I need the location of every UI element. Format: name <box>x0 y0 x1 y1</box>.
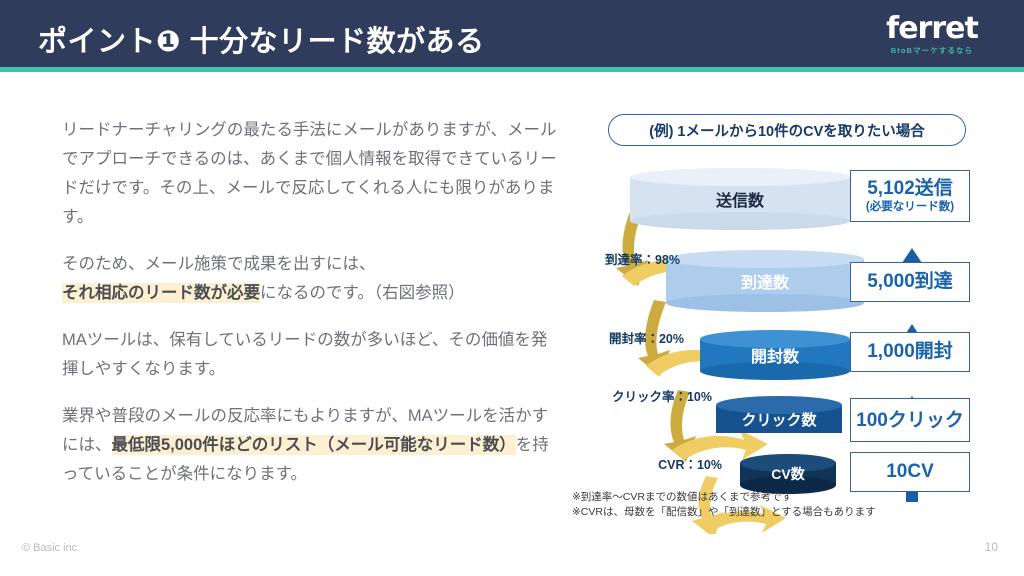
value-main: 5,102送信 <box>867 179 953 200</box>
value-box-reach: 5,000到達 <box>850 262 970 302</box>
value-sub: (必要なリード数) <box>866 201 954 213</box>
value-box-send: 5,102送信 (必要なリード数) <box>850 170 970 222</box>
paragraph-2-highlight: それ相応のリード数が必要 <box>62 283 260 303</box>
rate-label-open: 開封率：20% <box>574 328 684 347</box>
funnel-stage-label: クリック数 <box>716 396 842 442</box>
funnel-stage-label: 開封数 <box>700 330 850 380</box>
diagram-footnotes: ※到達率～CVRまでの数値はあくまで参考です ※CVRは、母数を「配信数」や「到… <box>572 490 876 520</box>
value-box-click: 100クリック <box>850 398 970 442</box>
funnel-stage-label: 送信数 <box>630 168 850 230</box>
paragraph-2-pre: そのため、メール施策で成果を出すには、 <box>62 255 376 273</box>
paragraph-2-post: になるのです。（右図参照） <box>260 284 465 302</box>
value-main: 1,000開封 <box>867 342 953 363</box>
funnel-stage-label: 到達数 <box>666 250 864 312</box>
value-main: 5,000到達 <box>867 272 953 293</box>
rate-label-reach: 到達率：98% <box>570 249 680 268</box>
funnel-stage-send: 送信数 <box>630 168 850 230</box>
paragraph-1: リードナーチャリングの最たる手法にメールがありますが、メールでアプローチできるの… <box>62 116 562 232</box>
value-box-open: 1,000開封 <box>850 332 970 372</box>
footnote-2: ※CVRは、母数を「配信数」や「到達数」とする場合もあります <box>572 505 876 520</box>
paragraph-3: MAツールは、保有しているリードの数が多いほど、その価値を発揮しやすくなります。 <box>62 326 562 384</box>
funnel-stage-reach: 到達数 <box>666 250 864 312</box>
paragraph-4: 業界や普段のメールの反応率にもよりますが、MAツールを活かすには、最低限5,00… <box>62 402 562 489</box>
footer-page-number: 10 <box>985 540 998 554</box>
funnel-diagram: (例) 1メールから10件のCVを取りたい場合 <box>560 104 1012 534</box>
paragraph-2: そのため、メール施策で成果を出すには、それ相応のリード数が必要になるのです。（右… <box>62 250 562 308</box>
value-box-cv: 10CV <box>850 452 970 492</box>
ferret-logo: ferret BtoBマーケするなら <box>866 14 998 55</box>
footer-copyright: © Basic inc. <box>22 542 80 554</box>
funnel-stage-label: CV数 <box>740 454 836 494</box>
logo-tagline: BtoBマーケするなら <box>866 47 998 55</box>
value-main: 10CV <box>886 462 934 483</box>
funnel-stage-cv: CV数 <box>740 454 836 494</box>
rate-label-click: クリック率：10% <box>582 386 712 405</box>
body-copy: リードナーチャリングの最たる手法にメールがありますが、メールでアプローチできるの… <box>62 116 562 489</box>
rate-label-cvr: CVR：10% <box>612 454 722 473</box>
funnel-stage-click: クリック数 <box>716 396 842 442</box>
slide-header: ポイント❶ 十分なリード数がある ferret BtoBマーケするなら <box>0 0 1024 72</box>
logo-wordmark: ferret <box>866 14 998 44</box>
header-accent-bar <box>0 67 1024 72</box>
value-main: 100クリック <box>856 411 964 430</box>
paragraph-4-highlight: 最低限5,000件ほどのリスト（メール可能なリード数） <box>112 435 516 455</box>
page-title: ポイント❶ 十分なリード数がある <box>38 18 485 60</box>
funnel-stage-open: 開封数 <box>700 330 850 380</box>
